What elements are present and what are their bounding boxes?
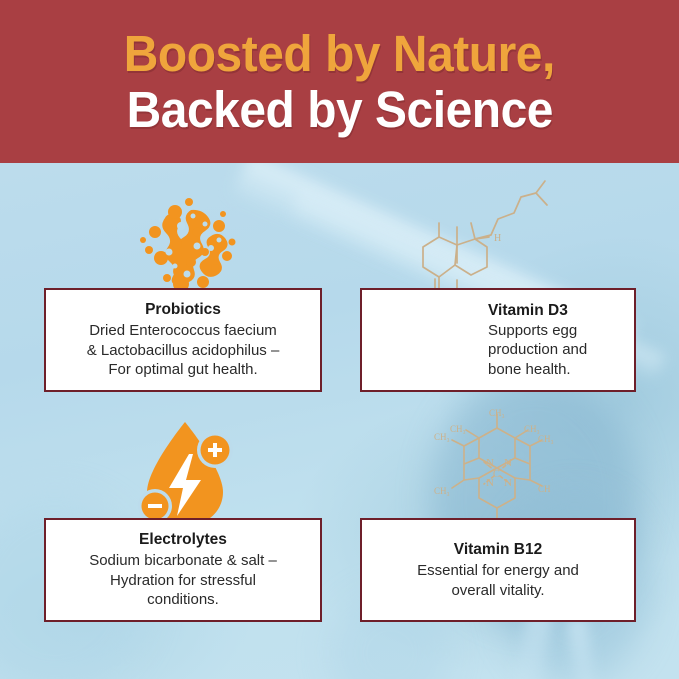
molecule-label-ch3: CH₃ xyxy=(450,424,466,434)
card-description-line: Hydration for stressful xyxy=(56,571,310,591)
molecule-label-n: N xyxy=(504,457,512,469)
card-description-line: Essential for energy and xyxy=(372,561,624,581)
card-title: Probiotics xyxy=(56,300,310,320)
card-electrolytes[interactable]: Electrolytes Sodium bicarbonate & salt –… xyxy=(44,518,322,622)
plus-badge-icon xyxy=(197,432,233,468)
molecule-label-ch3: CH₃ xyxy=(524,424,540,434)
header-banner: Boosted by Nature, Backed by Science xyxy=(0,0,679,163)
molecule-label-n: N xyxy=(504,477,512,489)
molecule-label-ch3: CH₃ xyxy=(538,434,554,444)
card-description-line: Dried Enterococcus faecium xyxy=(56,321,310,341)
molecule-label-h: H xyxy=(494,233,501,244)
molecule-label-ch3: CH₃ xyxy=(434,432,450,442)
microbe-cluster-icon xyxy=(131,196,243,296)
card-description-line: conditions. xyxy=(56,590,310,610)
card-probiotics[interactable]: Probiotics Dried Enterococcus faecium & … xyxy=(44,288,322,392)
card-title: Vitamin D3 xyxy=(488,301,568,321)
card-vitamin-d3[interactable]: Vitamin D3 Supports egg production and b… xyxy=(360,288,636,392)
card-description-line: Sodium bicarbonate & salt – xyxy=(56,551,310,571)
molecule-label-ch3: CH₃ xyxy=(434,486,450,496)
card-title: Vitamin B12 xyxy=(372,540,624,560)
card-description-line: bone health. xyxy=(488,360,571,380)
card-vitamin-b12[interactable]: Vitamin B12 Essential for energy and ove… xyxy=(360,518,636,622)
infographic-page: Boosted by Nature, Backed by Science xyxy=(0,0,679,679)
headline-line-2: Backed by Science xyxy=(126,84,552,135)
card-description-line: For optimal gut health. xyxy=(56,360,310,380)
water-droplet-lightning-icon xyxy=(133,418,237,530)
headline-line-1: Boosted by Nature, xyxy=(124,28,555,79)
card-description-line: Supports egg xyxy=(488,321,577,341)
card-description-line: & Lactobacillus acidophilus – xyxy=(56,341,310,361)
molecule-label-ch: CH xyxy=(538,484,551,494)
card-title: Electrolytes xyxy=(56,530,310,550)
card-description-line: overall vitality. xyxy=(372,581,624,601)
molecule-label-n: N xyxy=(486,457,494,469)
vitamin-b12-molecule-icon: N N N N C CH₃ CH₃ CH₃ CH₃ CH₃ CH₃ CH CH₃ xyxy=(434,404,560,528)
molecule-label-c: C xyxy=(493,469,500,480)
card-description-line: production and xyxy=(488,340,587,360)
molecule-label-ch3: CH₃ xyxy=(489,408,505,418)
